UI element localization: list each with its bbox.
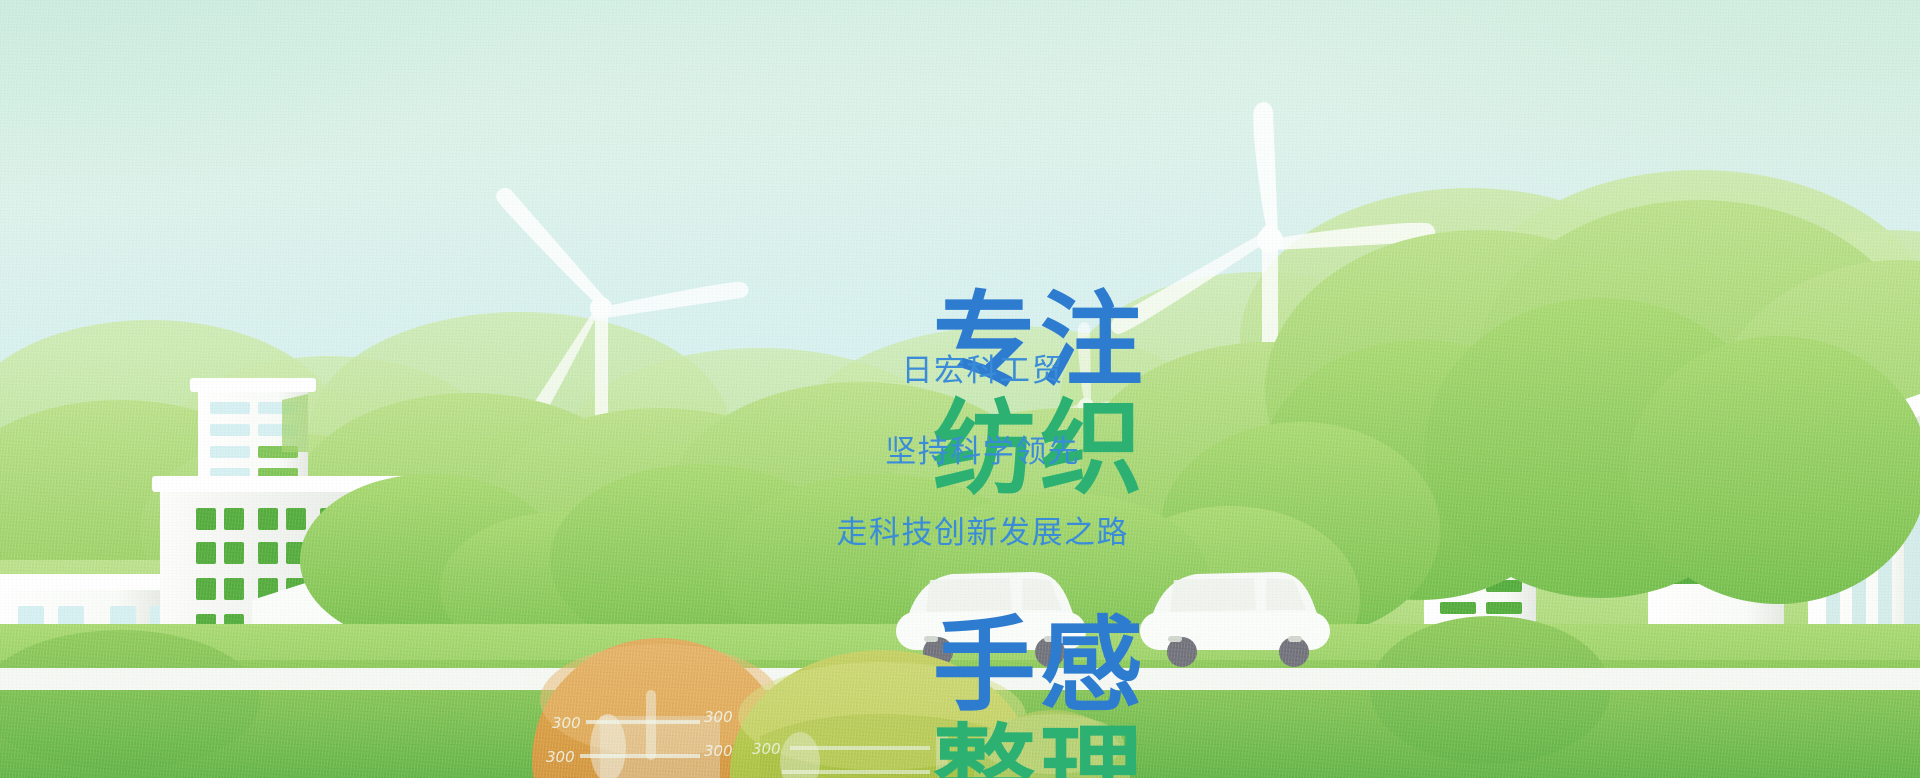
subtitle-segment-3: 走科技创新发展之路 bbox=[836, 507, 1129, 552]
subtitle-segment-2: 坚持科学领先 bbox=[885, 426, 1080, 471]
subtitle-segment-1: 日宏科工贸 bbox=[901, 345, 1064, 390]
page-subtitle: 日宏科工贸 坚持科学领先 走科技创新发展之路 bbox=[0, 309, 1920, 588]
title-segment-4: 整理 bbox=[933, 714, 1147, 778]
banner-hero: 300 300 300 300 300 bbox=[0, 0, 1920, 778]
title-segment-3: 手感 bbox=[933, 606, 1147, 726]
